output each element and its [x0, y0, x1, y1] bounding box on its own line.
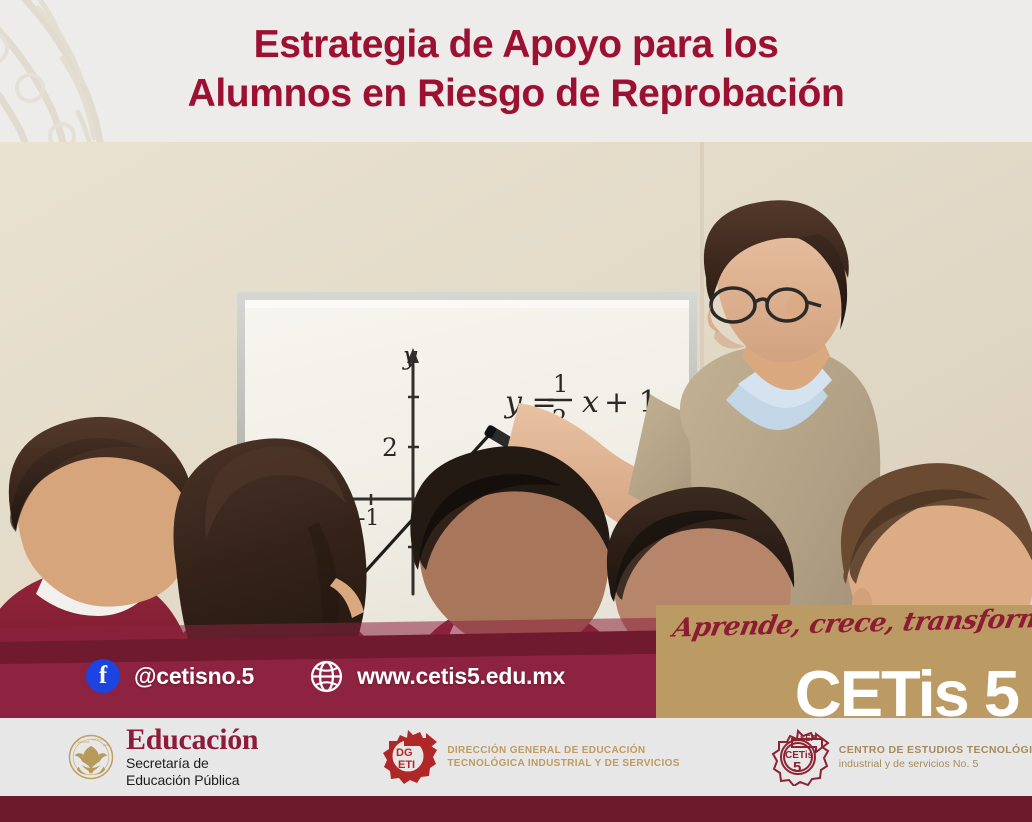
facebook-icon[interactable]: f — [86, 659, 120, 693]
sep-title: Educación — [126, 725, 274, 755]
dgeti-mark-dg: DG — [396, 747, 413, 759]
globe-icon[interactable] — [310, 660, 343, 693]
cetis-name: CETis 5 — [795, 661, 1018, 718]
website-link[interactable]: www.cetis5.edu.mx — [310, 660, 565, 693]
logo-cetis5: SEP CETis 5 CENTRO DE ESTUDIOS TECNOLÓGI… — [768, 718, 1032, 796]
facebook-handle: @cetisno.5 — [134, 663, 254, 690]
cetis5-line1: CENTRO DE ESTUDIOS TECNOLÓGICOS — [839, 743, 1032, 757]
dgeti-line1: DIRECCIÓN GENERAL DE EDUCACIÓN — [447, 744, 679, 757]
logo-dgeti: DG ETI DIRECCIÓN GENERAL DE EDUCACIÓN TE… — [378, 718, 679, 796]
website-url: www.cetis5.edu.mx — [357, 663, 565, 690]
poster-root: Estrategia de Apoyo para los Alumnos en … — [0, 0, 1032, 822]
dgeti-line2: TECNOLÓGICA INDUSTRIAL Y DE SERVICIOS — [447, 757, 679, 770]
cetis-mark-sep: SEP — [800, 734, 817, 743]
header-banner: Estrategia de Apoyo para los Alumnos en … — [0, 0, 1032, 142]
dgeti-mark-eti: ETI — [398, 759, 415, 771]
page-title: Estrategia de Apoyo para los Alumnos en … — [0, 20, 1032, 118]
cetis5-gear-icon: SEP CETis 5 — [768, 728, 830, 786]
page-title-line2: Alumnos en Riesgo de Reprobación — [0, 69, 1032, 118]
bottom-accent-bar — [0, 796, 1032, 822]
cetis-slogan: Aprende, crece, transforma. — [670, 605, 1027, 644]
svg-text:ESTADOS: ESTADOS — [78, 741, 90, 744]
logo-sep: ESTADOS UNIDOS MEX Educación Secretaría … — [68, 718, 274, 796]
svg-text:UNIDOS: UNIDOS — [92, 739, 102, 742]
facebook-link[interactable]: f @cetisno.5 — [86, 659, 254, 693]
page-title-line1: Estrategia de Apoyo para los — [0, 20, 1032, 69]
mexican-national-seal-icon: ESTADOS UNIDOS MEX — [68, 726, 114, 788]
cetis5-line2: industrial y de servicios No. 5 — [839, 757, 1032, 771]
dgeti-gear-icon: DG ETI — [378, 728, 438, 786]
cetis-mark-number: 5 — [793, 759, 801, 776]
sep-subtitle: Secretaría de Educación Pública — [126, 755, 274, 789]
svg-text:MEX: MEX — [103, 744, 109, 747]
institutional-logo-strip: ESTADOS UNIDOS MEX Educación Secretaría … — [0, 718, 1032, 796]
cetis-brand-box: Aprende, crece, transforma. CETis 5 — [656, 605, 1032, 718]
